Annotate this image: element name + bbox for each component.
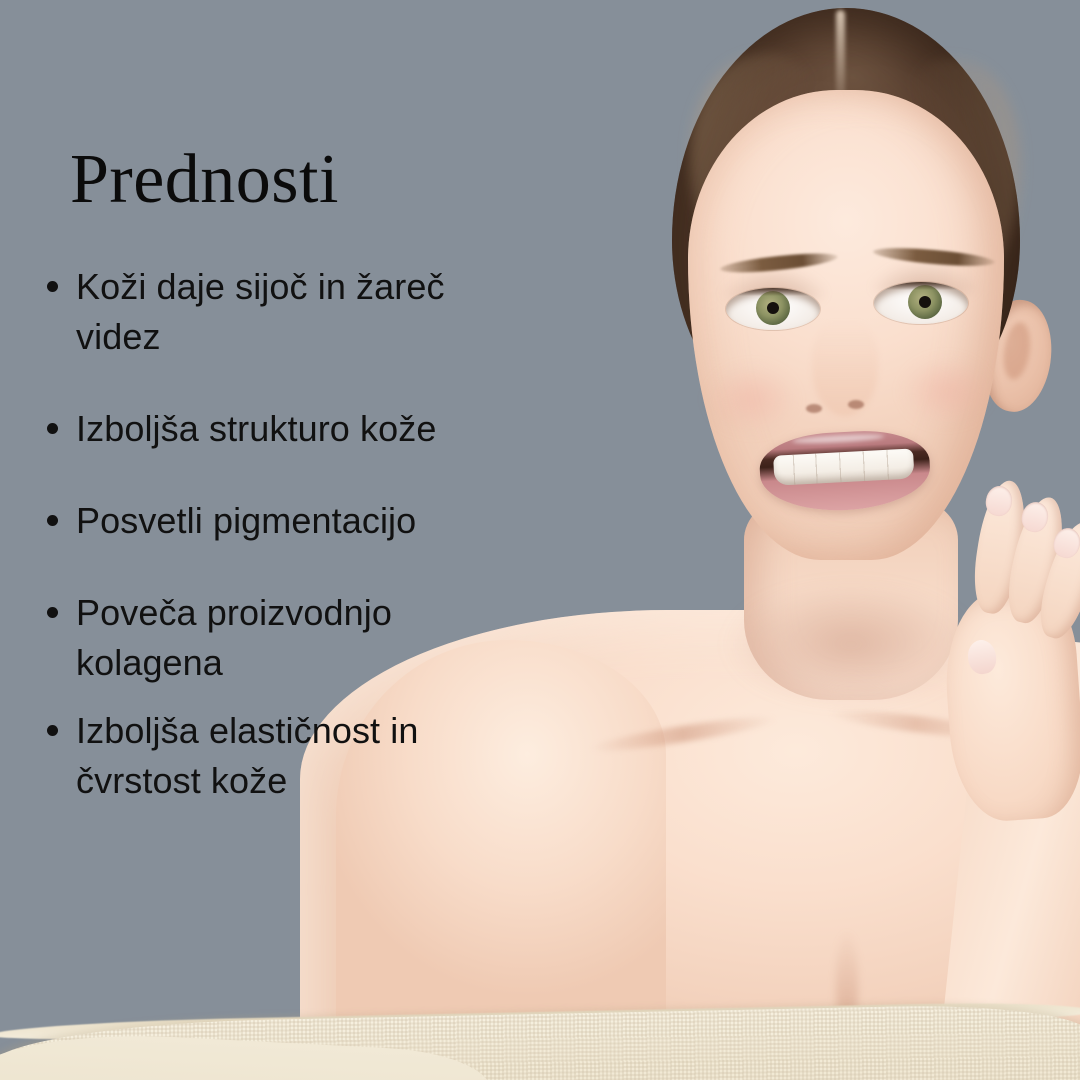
bullet-dot-icon (47, 281, 58, 292)
page-title: Prednosti (70, 145, 339, 215)
bullet-dot-icon (47, 725, 58, 736)
eye-left (726, 288, 820, 330)
slide-canvas: Prednosti Koži daje sijoč in žareč videz… (0, 0, 1080, 1080)
eye-right (874, 282, 968, 324)
cheek-right (900, 356, 992, 426)
eyelash-left (726, 288, 820, 296)
neck-shadow (726, 584, 976, 704)
list-item: Poveča proizvodnjo kolagena (30, 588, 460, 688)
list-item-label: Izboljša elastičnost in čvrstost kože (76, 710, 418, 801)
bullet-dot-icon (47, 607, 58, 618)
list-item: Posvetli pigmentacijo (30, 496, 460, 546)
nostril-right (848, 400, 864, 409)
list-item-label: Poveča proizvodnjo kolagena (76, 592, 392, 683)
list-item: Izboljša elastičnost in čvrstost kože (30, 706, 460, 806)
list-item: Izboljša strukturo kože (30, 404, 460, 454)
list-item-label: Izboljša strukturo kože (76, 408, 436, 449)
pupil-right (919, 296, 931, 308)
iris-right (908, 285, 942, 319)
list-item-label: Koži daje sijoč in žareč videz (76, 266, 445, 357)
benefits-list: Koži daje sijoč in žareč videz Izboljša … (30, 262, 460, 806)
teeth (773, 448, 914, 485)
list-item: Koži daje sijoč in žareč videz (30, 262, 460, 362)
nostril-left (806, 404, 822, 413)
bullet-dot-icon (47, 515, 58, 526)
list-item-label: Posvetli pigmentacijo (76, 500, 416, 541)
nose (812, 320, 878, 416)
pupil-left (767, 302, 779, 314)
cheek-left (706, 364, 798, 434)
iris-left (756, 291, 790, 325)
lip-highlight (792, 433, 884, 445)
bullet-dot-icon (47, 423, 58, 434)
eyelash-right (874, 282, 968, 290)
